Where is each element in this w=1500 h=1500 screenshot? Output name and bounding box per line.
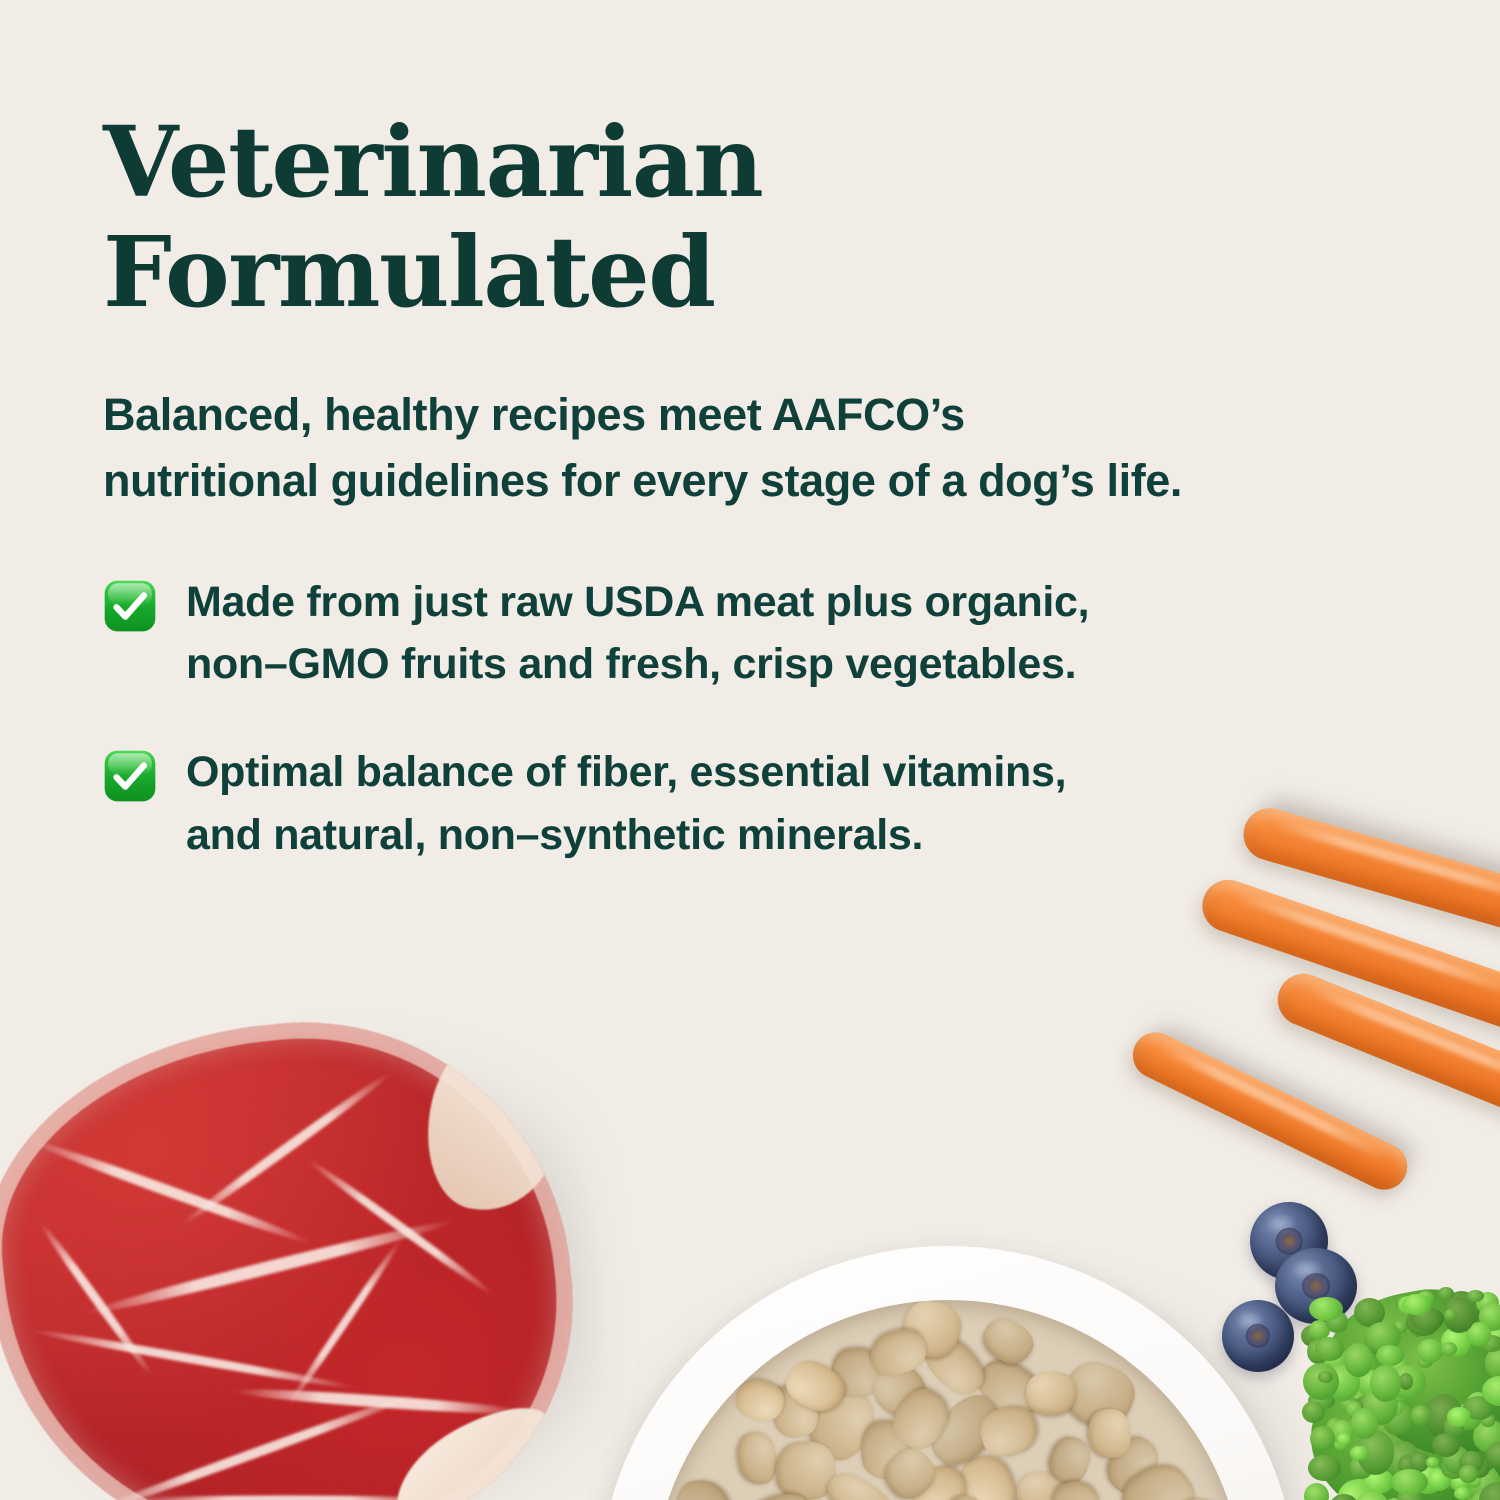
kale-ruffle: [1326, 1364, 1360, 1401]
kale-ruffle: [1463, 1396, 1494, 1421]
kibble-piece: [1056, 1354, 1141, 1436]
kale-image: [1300, 1286, 1500, 1500]
kale-ruffle: [1382, 1401, 1414, 1436]
kale-ruffle: [1417, 1339, 1443, 1363]
kale-ruffle: [1306, 1401, 1324, 1422]
kale-ruffle: [1397, 1488, 1422, 1500]
kale-ruffle: [1398, 1455, 1417, 1475]
kale-ruffle: [1402, 1294, 1432, 1315]
kale-ruffle: [1337, 1433, 1352, 1446]
kale-ruffle: [1354, 1491, 1390, 1500]
bowl-shadow: [616, 1268, 1316, 1500]
kale-ruffle: [1446, 1479, 1461, 1490]
kale-ruffle: [1452, 1465, 1479, 1487]
kale-ruffle: [1349, 1458, 1369, 1472]
kale-leaf: [1318, 1278, 1500, 1436]
kibble-piece: [1100, 1430, 1167, 1500]
kale-ruffle: [1308, 1455, 1341, 1481]
kale-ruffle: [1480, 1335, 1500, 1352]
kale-ruffle: [1467, 1485, 1497, 1500]
kale-ruffle: [1417, 1291, 1433, 1306]
kale-ruffle: [1393, 1321, 1408, 1332]
kale-ruffle: [1454, 1487, 1471, 1500]
kale-ruffle: [1410, 1307, 1444, 1332]
kibble-piece: [732, 1485, 815, 1500]
kale-ruffle: [1326, 1418, 1344, 1437]
kibble-piece: [800, 1379, 882, 1467]
kibble-piece: [976, 1312, 1039, 1372]
list-item: Optimal balance of fiber, essential vita…: [103, 741, 1443, 866]
kale-ruffle: [1466, 1465, 1500, 1500]
kibble-piece: [864, 1322, 932, 1382]
kale-ruffle: [1386, 1401, 1404, 1423]
raw-steak-image: [0, 978, 636, 1500]
kale-ruffle: [1357, 1370, 1387, 1397]
kale-ruffle: [1307, 1339, 1329, 1364]
kale-ruffle: [1370, 1365, 1401, 1402]
headline-line-2: Formulated: [103, 218, 923, 328]
kale-ruffle: [1326, 1374, 1340, 1388]
kale-ruffle: [1349, 1352, 1376, 1381]
kale-ruffle: [1310, 1426, 1335, 1451]
kale-ruffle: [1408, 1469, 1437, 1494]
kale-ruffle: [1444, 1416, 1463, 1439]
kale-ruffle: [1357, 1430, 1394, 1474]
kale-ruffle: [1301, 1325, 1325, 1347]
kale-ruffle: [1391, 1469, 1428, 1495]
kibble-piece: [1110, 1453, 1207, 1500]
kale-ruffle: [1346, 1479, 1373, 1499]
kale-ruffle: [1479, 1303, 1500, 1332]
kale-ruffle: [1384, 1441, 1421, 1484]
kale-ruffle: [1321, 1349, 1350, 1371]
kibble-piece: [916, 1327, 993, 1403]
bullet-2-line-1: Optimal balance of fiber, essential vita…: [186, 741, 1066, 803]
carrot-shadow: [1142, 1020, 1420, 1183]
kale-ruffle: [1421, 1458, 1435, 1470]
steak-body: [0, 996, 596, 1500]
kale-ruffle: [1417, 1354, 1433, 1368]
kale-ruffle: [1452, 1466, 1484, 1494]
kale-ruffle: [1468, 1473, 1481, 1488]
kale-ruffle: [1444, 1291, 1479, 1331]
kibble-piece: [920, 1385, 1010, 1475]
kale-ruffle: [1350, 1455, 1373, 1480]
kibble-piece: [1045, 1433, 1094, 1487]
bullet-1-line-1: Made from just raw USDA meat plus organi…: [186, 571, 1089, 633]
headline-line-1: Veterinarian: [103, 108, 923, 218]
kale-ruffle: [1331, 1420, 1354, 1444]
kale-ruffle: [1309, 1297, 1343, 1321]
kale-ruffle: [1341, 1361, 1356, 1376]
kibble-bowl-image: [598, 1246, 1310, 1500]
kale-ruffle: [1356, 1396, 1375, 1410]
copy-block: Veterinarian Formulated Balanced, health…: [103, 0, 1443, 866]
kale-ruffle: [1346, 1401, 1362, 1420]
green-check-icon: [103, 579, 157, 633]
kale-ruffle: [1459, 1451, 1484, 1473]
kale-ruffle: [1441, 1457, 1467, 1479]
kale-ruffle: [1406, 1308, 1440, 1336]
carrot: [1270, 966, 1500, 1134]
kale-ruffle: [1405, 1492, 1417, 1500]
kale-ruffle: [1451, 1473, 1471, 1491]
list-item-text: Made from just raw USDA meat plus organi…: [186, 571, 1089, 696]
subheading: Balanced, healthy recipes meet AAFCO’s n…: [103, 327, 1443, 514]
benefits-list: Made from just raw USDA meat plus organi…: [103, 515, 1443, 866]
kale-ruffle: [1441, 1342, 1458, 1356]
kale-ruffle: [1326, 1311, 1348, 1334]
blueberry: [1250, 1202, 1328, 1280]
kale-ruffle: [1354, 1298, 1385, 1327]
subheading-line-1: Balanced, healthy recipes meet AAFCO’s: [103, 382, 1443, 448]
kale-ruffle: [1318, 1371, 1333, 1383]
kibble-piece: [1046, 1477, 1107, 1500]
kale-ruffle: [1485, 1346, 1500, 1380]
white-bowl: [598, 1246, 1298, 1500]
kale-ruffle: [1388, 1365, 1426, 1399]
bullet-1-line-2: non–GMO fruits and fresh, crisp vegetabl…: [186, 633, 1089, 695]
kibble-piece: [1086, 1406, 1135, 1461]
kibble-piece: [903, 1458, 975, 1500]
kibble-piece: [765, 1379, 823, 1442]
kibble-field: [652, 1300, 1244, 1500]
kibble-piece: [1024, 1370, 1077, 1417]
kale-ruffle: [1426, 1457, 1438, 1468]
kale-ruffle: [1365, 1322, 1401, 1351]
kale-ruffle: [1308, 1391, 1335, 1411]
kale-ruffle: [1411, 1405, 1430, 1426]
kibble-piece: [734, 1377, 787, 1424]
kibble-piece: [885, 1380, 957, 1456]
kale-ruffle: [1479, 1482, 1500, 1500]
steak-fat-cap: [412, 1010, 579, 1223]
kale-ruffle: [1487, 1486, 1500, 1500]
kale-ruffle: [1335, 1490, 1360, 1500]
kale-ruffle: [1470, 1490, 1500, 1500]
kibble-piece: [864, 1355, 933, 1424]
kale-ruffle: [1459, 1465, 1478, 1484]
kale-ruffle: [1412, 1463, 1444, 1494]
kale-ruffle: [1399, 1373, 1414, 1390]
kale-ruffle: [1410, 1452, 1429, 1473]
kibble-piece: [877, 1441, 943, 1500]
kale-ruffle: [1398, 1296, 1419, 1313]
kale-ruffle: [1364, 1372, 1377, 1387]
product-feature-card: Veterinarian Formulated Balanced, health…: [0, 0, 1500, 1500]
list-item-text: Optimal balance of fiber, essential vita…: [186, 741, 1066, 866]
kale-ruffle: [1339, 1385, 1369, 1417]
kale-ruffle: [1315, 1337, 1345, 1361]
kale-ruffle: [1344, 1343, 1373, 1377]
kale-leaf: [1347, 1312, 1500, 1472]
kale-ruffle: [1455, 1403, 1482, 1430]
kale-ruffle: [1467, 1457, 1489, 1479]
kibble-piece: [780, 1354, 851, 1418]
kale-ruffle: [1303, 1363, 1339, 1400]
kale-ruffle: [1351, 1408, 1378, 1439]
kale-ruffle: [1304, 1483, 1329, 1500]
kale-leaf: [1303, 1364, 1500, 1500]
carrots-image: [1120, 838, 1500, 1218]
kale-ruffle: [1344, 1482, 1382, 1500]
kibble-piece: [898, 1300, 965, 1362]
steak-shadow: [7, 1020, 616, 1500]
kale-ruffle: [1390, 1358, 1409, 1376]
kale-ruffle: [1412, 1305, 1427, 1317]
kale-ruffle: [1467, 1322, 1491, 1348]
kibble-piece: [1017, 1470, 1070, 1500]
kale-ruffle: [1376, 1345, 1404, 1366]
kale-ruffle: [1427, 1469, 1451, 1491]
kale-ruffle: [1443, 1297, 1475, 1332]
bullet-2-line-2: and natural, non–synthetic minerals.: [186, 804, 1066, 866]
kale-ruffle: [1334, 1436, 1347, 1451]
kibble-piece: [671, 1476, 737, 1500]
kibble-piece: [1165, 1492, 1241, 1500]
kale-ruffle: [1302, 1401, 1325, 1423]
kale-ruffle: [1309, 1320, 1330, 1340]
kale-ruffle: [1447, 1407, 1471, 1426]
kale-ruffle: [1362, 1469, 1394, 1495]
kale-ruffle: [1308, 1400, 1325, 1415]
kale-ruffle: [1387, 1380, 1408, 1404]
kale-ruffle: [1350, 1446, 1368, 1460]
kale-ruffle: [1396, 1296, 1409, 1310]
kibble-piece: [975, 1400, 1043, 1463]
kale-ruffle: [1466, 1392, 1490, 1420]
kibble-piece: [939, 1492, 989, 1500]
kale-ruffle: [1486, 1327, 1500, 1349]
kale-ruffle: [1473, 1420, 1500, 1453]
kale-ruffle: [1432, 1433, 1460, 1457]
kale-ruffle: [1482, 1376, 1500, 1406]
blueberry: [1275, 1248, 1357, 1324]
kale-ruffle: [1337, 1480, 1373, 1500]
kale-ruffle: [1425, 1394, 1463, 1439]
kibble-piece: [773, 1439, 838, 1500]
kale-ruffle: [1348, 1441, 1379, 1470]
kale-ruffle: [1338, 1397, 1361, 1414]
kale-ruffle: [1391, 1408, 1406, 1425]
kale-ruffle: [1486, 1442, 1500, 1468]
kale-ruffle: [1438, 1287, 1454, 1300]
kale-ruffle: [1443, 1446, 1471, 1474]
kale-ruffle: [1479, 1460, 1492, 1471]
kale-ruffle: [1331, 1494, 1357, 1500]
green-check-icon: [103, 749, 157, 803]
kale-ruffle: [1364, 1325, 1390, 1354]
page-title: Veterinarian Formulated: [103, 0, 923, 327]
carrot: [1195, 873, 1500, 1039]
subheading-line-2: nutritional guidelines for every stage o…: [103, 448, 1443, 514]
kale-ruffle: [1387, 1401, 1403, 1417]
list-item: Made from just raw USDA meat plus organi…: [103, 571, 1443, 696]
kale-ruffle: [1353, 1397, 1372, 1419]
kale-ruffle: [1441, 1327, 1471, 1357]
blueberry: [1222, 1300, 1294, 1372]
kale-ruffle: [1444, 1309, 1458, 1321]
kale-ruffle: [1432, 1474, 1446, 1489]
kibble-piece: [969, 1350, 1050, 1425]
kibble-piece: [829, 1346, 885, 1400]
kale-ruffle: [1363, 1386, 1398, 1425]
kibble-piece: [820, 1465, 904, 1500]
kale-ruffle: [1410, 1320, 1425, 1337]
kale-ruffle: [1467, 1290, 1484, 1303]
kale-ruffle: [1476, 1292, 1499, 1315]
kibble-piece: [952, 1448, 1024, 1500]
kibble-piece: [977, 1490, 1074, 1500]
kibble-piece: [734, 1429, 782, 1487]
kale-ruffle: [1481, 1414, 1496, 1427]
carrot: [1125, 1025, 1415, 1198]
kibble-piece: [858, 1418, 914, 1481]
steak-fat-edge: [375, 1387, 576, 1500]
